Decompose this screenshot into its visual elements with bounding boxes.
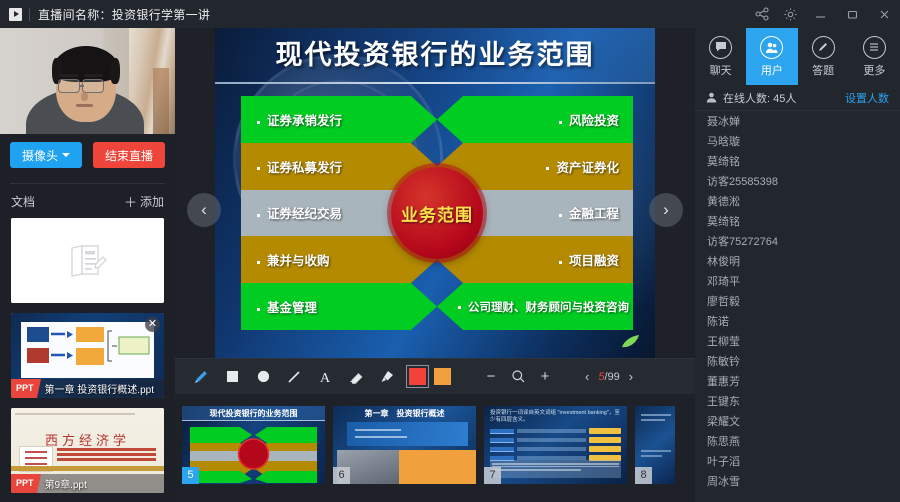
app-root: 直播间名称：投资银行学第一讲 bbox=[0, 0, 900, 502]
document-badge: PPT 第9章.ppt bbox=[11, 474, 87, 493]
list-item[interactable]: 访客75272764 bbox=[695, 232, 900, 252]
thumbnail-6-number: 6 bbox=[333, 467, 350, 484]
close-icon[interactable] bbox=[868, 0, 900, 28]
gear-icon[interactable] bbox=[776, 0, 804, 28]
plus-icon: ＋ bbox=[124, 192, 137, 211]
slide-title-rule bbox=[215, 82, 655, 84]
thumb5-rule bbox=[182, 420, 325, 421]
right-panel: 聊天 用户 答题 更多 bbox=[695, 28, 900, 502]
slide-canvas[interactable]: 现代投资银行的业务范围 证券承销发行 bbox=[215, 28, 655, 358]
document-badge: PPT 第一章 投资银行概述.ppt bbox=[11, 379, 154, 398]
page-prev-button[interactable]: ‹ bbox=[585, 369, 589, 384]
chevron-right-icon: › bbox=[663, 200, 669, 220]
diagram-right-label-0: 风险投资 bbox=[559, 110, 619, 129]
list-item[interactable]: 周冰雪 bbox=[695, 472, 900, 492]
ppt9-rule bbox=[15, 413, 135, 415]
ppt-chapter1-thumbnail: ✕ PPT 第一章 投资银行概述.ppt bbox=[11, 313, 164, 398]
square-icon[interactable] bbox=[218, 363, 246, 391]
document-list: ✕ PPT 第一章 投资银行概述.ppt 西方经济学 bbox=[0, 218, 175, 502]
diagram-left-label-0: 证券承销发行 bbox=[257, 110, 342, 129]
diagram-item-right-0: 风险投资 bbox=[437, 96, 633, 143]
list-item[interactable]: 莫绮铭 bbox=[695, 212, 900, 232]
list-item[interactable]: 陈敏钤 bbox=[695, 352, 900, 372]
thumb5-diagram bbox=[182, 423, 325, 483]
pen-icon bbox=[812, 36, 835, 59]
camera-person-hair-right bbox=[110, 58, 120, 84]
minimize-icon[interactable] bbox=[804, 0, 836, 28]
thumb6-textbox bbox=[347, 422, 468, 446]
tab-quiz[interactable]: 答题 bbox=[798, 28, 849, 85]
thumbnail-8[interactable]: 8 bbox=[635, 406, 675, 484]
play-logo-icon bbox=[9, 8, 22, 21]
online-count-text: 在线人数: 45人 bbox=[723, 90, 796, 106]
slide-title: 现代投资银行的业务范围 bbox=[215, 33, 655, 72]
list-item[interactable]: 董惠芳 bbox=[695, 372, 900, 392]
list-item[interactable]: 梁耀文 bbox=[695, 412, 900, 432]
thumbnail-7-title: 投资银行一词译自英文词组 "investment banking"，至少有四层含… bbox=[490, 410, 621, 424]
thumbnail-8-number: 8 bbox=[635, 467, 652, 484]
users-icon bbox=[760, 36, 783, 59]
pencil-icon[interactable] bbox=[187, 363, 215, 391]
list-item[interactable]: 马晗璇 bbox=[695, 132, 900, 152]
tab-chat[interactable]: 聊天 bbox=[695, 28, 746, 85]
thumb8-lines bbox=[641, 414, 671, 424]
color-red-swatch[interactable] bbox=[409, 368, 426, 385]
thumbnail-5-title: 现代投资银行的业务范围 bbox=[182, 408, 325, 419]
online-count-bar: 在线人数: 45人 设置人数 bbox=[695, 85, 900, 111]
leaf-decoration-icon bbox=[621, 334, 641, 350]
list-item[interactable]: 陈诺 bbox=[695, 312, 900, 332]
document-item-ppt-chapter9[interactable]: 西方经济学 PPT 第9章.ppt bbox=[11, 408, 164, 493]
thumbnail-6[interactable]: 第一章 投资银行概述 6 bbox=[333, 406, 476, 484]
page-next-button[interactable]: › bbox=[629, 369, 633, 384]
diagram-left-label-2: 证券经纪交易 bbox=[257, 203, 342, 222]
thumb8-lines2 bbox=[641, 450, 671, 457]
diagram-right-label-3: 项目融资 bbox=[559, 250, 619, 269]
text-a-icon[interactable]: A bbox=[311, 363, 339, 391]
ppt-tag: PPT bbox=[11, 474, 41, 493]
ppt9-subtitle-lines bbox=[57, 448, 156, 463]
list-item[interactable]: 王键东 bbox=[695, 392, 900, 412]
live-controls: 摄像头 结束直播 bbox=[0, 142, 175, 172]
left-panel-divider bbox=[10, 183, 165, 184]
total-pages: 99 bbox=[608, 371, 620, 383]
camera-button-label: 摄像头 bbox=[22, 147, 58, 164]
page-navigation: ‹ 5/99 › bbox=[585, 369, 633, 384]
tab-chat-label: 聊天 bbox=[710, 62, 732, 78]
circle-icon[interactable] bbox=[249, 363, 277, 391]
end-live-button[interactable]: 结束直播 bbox=[93, 142, 165, 168]
thumbnail-5[interactable]: 现代投资银行的业务范围 5 bbox=[182, 406, 325, 484]
document-name: 第9章.ppt bbox=[45, 476, 87, 491]
tab-quiz-label: 答题 bbox=[812, 62, 834, 78]
user-list[interactable]: 聂冰婵 马晗璇 莫绮铭 访客25585398 黄德淞 莫绮铭 访客7527276… bbox=[695, 112, 900, 502]
diagram-left-label-1: 证券私募发行 bbox=[257, 157, 342, 176]
diagram-right-label-2: 金融工程 bbox=[559, 203, 619, 222]
camera-person-mouth bbox=[76, 104, 93, 107]
panel-tabs: 聊天 用户 答题 更多 bbox=[695, 28, 900, 85]
thumb7-rows bbox=[490, 428, 621, 461]
list-item[interactable]: 林俊明 bbox=[695, 252, 900, 272]
remove-document-icon[interactable]: ✕ bbox=[145, 317, 160, 332]
left-panel: 摄像头 结束直播 文档 ＋ 添加 bbox=[0, 28, 175, 502]
tab-users[interactable]: 用户 bbox=[746, 28, 797, 85]
camera-preview bbox=[0, 28, 175, 134]
documents-label: 文档 bbox=[11, 193, 35, 210]
slide-next-button[interactable]: › bbox=[649, 193, 683, 227]
ppt9-band bbox=[11, 466, 164, 471]
svg-text:A: A bbox=[320, 371, 331, 385]
color-orange-swatch[interactable] bbox=[434, 368, 451, 385]
line-icon[interactable] bbox=[280, 363, 308, 391]
list-item[interactable]: 莫绮铭 bbox=[695, 152, 900, 172]
thumb7-note bbox=[490, 460, 621, 478]
diagram-item-left-4: 基金管理 bbox=[241, 283, 437, 330]
ppt-chapter1-slide-area bbox=[21, 322, 154, 378]
document-name: 第一章 投资银行概述.ppt bbox=[45, 381, 154, 396]
title-bar: 直播间名称：投资银行学第一讲 bbox=[0, 0, 900, 28]
page-indicator: 5/99 bbox=[598, 371, 619, 383]
documents-header: 文档 ＋ 添加 bbox=[0, 188, 175, 214]
document-item-whiteboard[interactable] bbox=[11, 218, 164, 303]
drawing-toolbar: A − + ‹ 5/99 › bbox=[175, 358, 695, 394]
diagram-item-right-4: 公司理财、财务顾问与投资咨询 bbox=[437, 283, 633, 330]
zoom-controls: − + bbox=[479, 365, 557, 389]
window-title: 直播间名称：投资银行学第一讲 bbox=[38, 6, 210, 23]
zoom-in-button[interactable]: + bbox=[533, 365, 557, 389]
chevron-down-icon bbox=[62, 153, 70, 157]
maximize-icon[interactable] bbox=[836, 0, 868, 28]
add-document-button[interactable]: ＋ 添加 bbox=[124, 192, 164, 211]
list-item[interactable]: 陈思燕 bbox=[695, 432, 900, 452]
list-item[interactable]: 王柳莹 bbox=[695, 332, 900, 352]
camera-person-glasses-left bbox=[58, 79, 80, 93]
diagram-right-label-4: 公司理财、财务顾问与投资咨询 bbox=[458, 299, 629, 315]
document-pen-icon bbox=[66, 242, 110, 280]
list-item[interactable]: 聂冰婵 bbox=[695, 112, 900, 132]
magnifier-icon[interactable] bbox=[506, 365, 530, 389]
thumbnail-7[interactable]: 投资银行一词译自英文词组 "investment banking"，至少有四层含… bbox=[484, 406, 627, 484]
title-divider bbox=[29, 8, 30, 21]
thumb6-orange-block bbox=[399, 450, 476, 484]
diagram-right-label-1: 资产证券化 bbox=[546, 157, 619, 176]
brush-icon[interactable] bbox=[373, 363, 401, 391]
end-live-label: 结束直播 bbox=[105, 147, 153, 164]
list-item[interactable]: 访客25585398 bbox=[695, 172, 900, 192]
list-item[interactable]: 黄德淞 bbox=[695, 192, 900, 212]
diagram-left-label-4: 基金管理 bbox=[257, 297, 317, 316]
chevron-left-icon: ‹ bbox=[201, 200, 207, 220]
share-icon[interactable] bbox=[748, 0, 776, 28]
chat-icon bbox=[709, 36, 732, 59]
center-panel: 现代投资银行的业务范围 证券承销发行 bbox=[175, 28, 695, 502]
slide-diagram: 证券承销发行 证券私募发行 证券经纪交易 bbox=[241, 96, 633, 330]
document-item-ppt-chapter1[interactable]: ✕ PPT 第一章 投资银行概述.ppt bbox=[11, 313, 164, 398]
tab-users-label: 用户 bbox=[761, 62, 783, 78]
zoom-out-button[interactable]: − bbox=[479, 365, 503, 389]
list-item[interactable]: 廖哲毅 bbox=[695, 292, 900, 312]
thumbnail-6-title: 第一章 投资银行概述 bbox=[333, 408, 476, 419]
camera-curtain-fold bbox=[153, 68, 169, 134]
window-controls bbox=[748, 0, 900, 28]
list-item[interactable]: 叶子滔 bbox=[695, 452, 900, 472]
whiteboard-thumbnail bbox=[11, 218, 164, 303]
thumbnail-7-number: 7 bbox=[484, 467, 501, 484]
camera-person-nose bbox=[81, 92, 88, 101]
person-icon bbox=[706, 92, 717, 103]
diagram-center-circle: 业务范围 bbox=[391, 167, 483, 259]
set-capacity-link[interactable]: 设置人数 bbox=[845, 90, 889, 106]
thumbnail-5-number: 5 bbox=[182, 467, 199, 484]
diagram-item-left-0: 证券承销发行 bbox=[241, 96, 437, 143]
diagram-left-label-3: 兼并与收购 bbox=[257, 250, 330, 269]
eraser-icon[interactable] bbox=[342, 363, 370, 391]
add-document-label: 添加 bbox=[140, 193, 164, 210]
diagram-center-label: 业务范围 bbox=[401, 201, 473, 226]
camera-person-brow-left bbox=[59, 74, 78, 77]
camera-select-button[interactable]: 摄像头 bbox=[10, 142, 82, 168]
list-icon bbox=[863, 36, 886, 59]
thumbnail-list: 现代投资银行的业务范围 5 bbox=[182, 406, 675, 484]
camera-person-glasses-right bbox=[82, 79, 104, 93]
camera-person-glasses-bridge bbox=[80, 85, 84, 87]
thumbnail-strip: 现代投资银行的业务范围 5 bbox=[175, 394, 695, 502]
list-item[interactable]: 邓琦平 bbox=[695, 272, 900, 292]
ppt-tag: PPT bbox=[11, 379, 41, 398]
ppt-chapter9-thumbnail: 西方经济学 PPT 第9章.ppt bbox=[11, 408, 164, 493]
slide-stage: 现代投资银行的业务范围 证券承销发行 bbox=[175, 28, 695, 358]
tab-more-label: 更多 bbox=[863, 62, 885, 78]
camera-person-brow-right bbox=[84, 74, 103, 77]
slide-prev-button[interactable]: ‹ bbox=[187, 193, 221, 227]
tab-more[interactable]: 更多 bbox=[849, 28, 900, 85]
